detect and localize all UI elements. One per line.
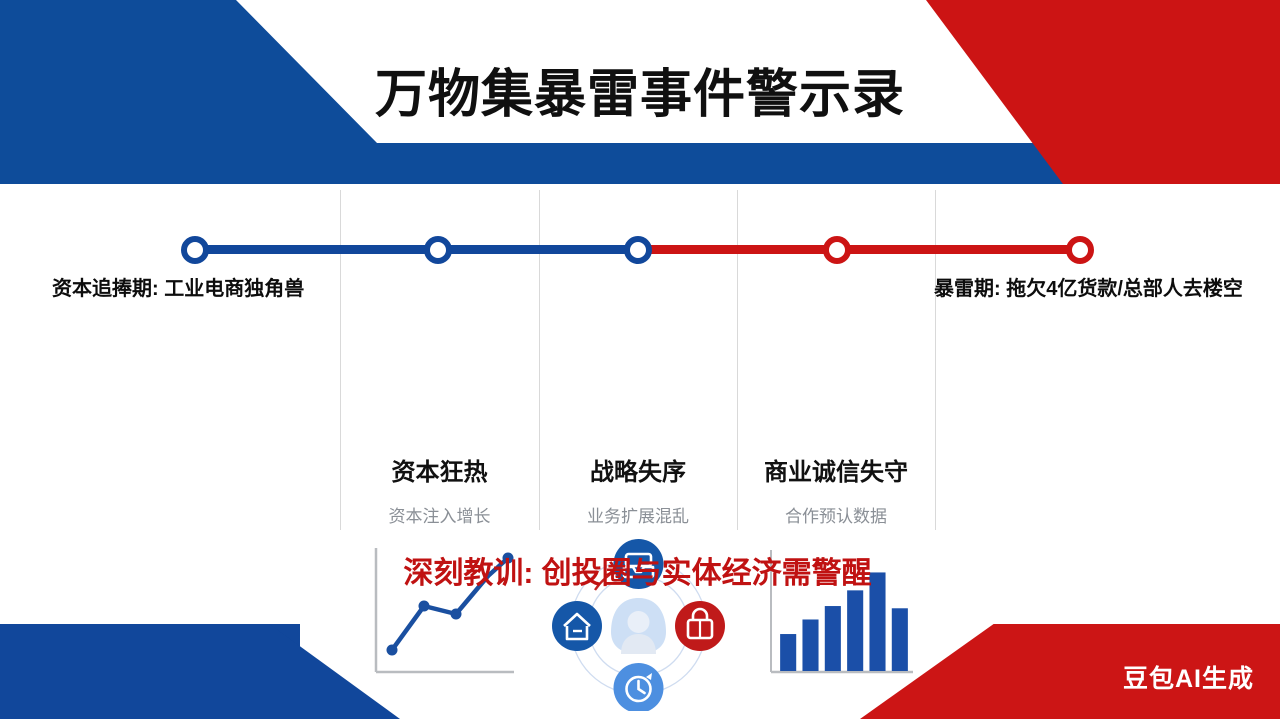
- timeline-node-5[interactable]: [1066, 236, 1094, 264]
- bar: [802, 619, 818, 671]
- stage-heading: 资本狂热: [340, 452, 539, 487]
- bar: [847, 590, 863, 671]
- timeline-segment-blue: [195, 245, 643, 254]
- lesson-banner: 深刻教训: 创投圈与实体经济需警醒: [340, 548, 935, 592]
- timeline-node-2[interactable]: [424, 236, 452, 264]
- stage-heading: 商业诚信失守: [737, 452, 935, 487]
- timeline-node-1[interactable]: [181, 236, 209, 264]
- timeline-segment-red: [640, 245, 1088, 254]
- stage-subtitle: 资本注入增长: [340, 502, 539, 527]
- top-blue-band: [0, 143, 1063, 184]
- stage-right-heading: 暴雷期: 拖欠4亿货款/总部人去楼空: [934, 272, 1243, 301]
- stage-left-heading: 资本追捧期: 工业电商独角兽: [52, 272, 304, 301]
- stage-heading: 战略失序: [539, 452, 737, 487]
- page-title: 万物集暴雷事件警示录: [0, 52, 1280, 127]
- bottom-left-blue-shape: [0, 623, 400, 719]
- lock-icon: [675, 601, 725, 651]
- divider-1: [340, 190, 341, 530]
- clock-icon: [614, 663, 664, 711]
- timeline-node-4[interactable]: [823, 236, 851, 264]
- timeline-node-3[interactable]: [624, 236, 652, 264]
- bar: [780, 634, 796, 671]
- watermark-label: 豆包AI生成: [1123, 659, 1254, 695]
- divider-2: [539, 190, 540, 530]
- bar: [825, 606, 841, 671]
- bar: [892, 608, 908, 671]
- stage-subtitle: 业务扩展混乱: [539, 502, 737, 527]
- divider-4: [935, 190, 936, 530]
- bottom-blue-band: [0, 623, 300, 719]
- user-icon: [611, 598, 666, 654]
- home-icon: [552, 601, 602, 651]
- infographic-slide: 万物集暴雷事件警示录 资本狂热 资本注入增长: [0, 0, 1280, 719]
- timeline: [0, 245, 1280, 255]
- stage-subtitle: 合作预认数据: [737, 502, 935, 527]
- divider-3: [737, 190, 738, 530]
